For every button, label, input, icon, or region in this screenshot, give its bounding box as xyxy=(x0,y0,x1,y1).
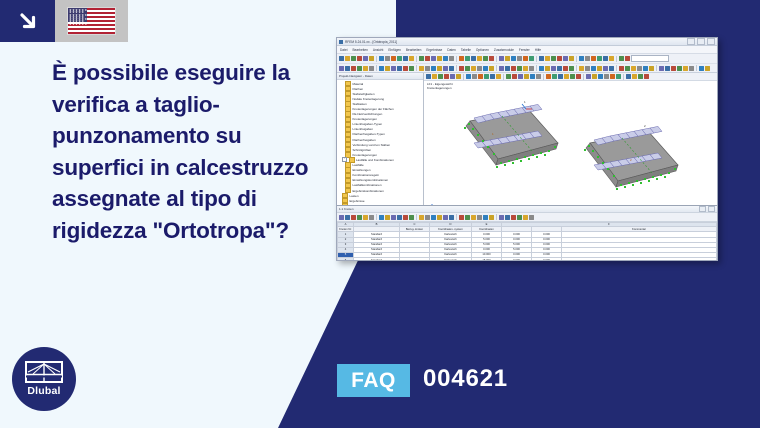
toolbar-button-icon[interactable] xyxy=(570,74,575,79)
toolbar-separator xyxy=(536,65,537,71)
toolbar-button-icon[interactable] xyxy=(631,66,636,71)
toolbar-button-icon[interactable] xyxy=(545,56,550,61)
data-grid[interactable]: ABCDEFKnoten Nr.Bezug- knotenKoordinaten… xyxy=(337,222,717,261)
maximize-icon[interactable] xyxy=(697,38,705,45)
table-cell[interactable]: 0.000 xyxy=(532,257,562,261)
toolbar-button-icon[interactable] xyxy=(489,66,494,71)
tree-item-label: Lastfälle xyxy=(353,163,364,167)
toolbar-button-icon[interactable] xyxy=(579,56,584,61)
frame-structure-icon xyxy=(25,361,63,383)
toolbar-button-icon[interactable] xyxy=(499,215,504,220)
project-navigator-tree[interactable]: MaterialFlächenStabsteifigkeitenNodale K… xyxy=(337,80,423,217)
table-cell[interactable]: Kartesisch xyxy=(430,257,472,261)
tree-item-label: Knotenlagerungen der Flächen xyxy=(353,107,394,111)
toolbar-button-icon[interactable] xyxy=(489,215,494,220)
toolbar-button-icon[interactable] xyxy=(459,215,464,220)
toolbar-button-icon[interactable] xyxy=(339,56,344,61)
toolbar-button-icon[interactable] xyxy=(604,74,609,79)
toolbar-button-icon[interactable] xyxy=(586,74,591,79)
toolbar-button-icon[interactable] xyxy=(425,66,430,71)
tree-item-label: FE-Netzverdichtungen xyxy=(353,112,383,116)
toolbar-button-icon[interactable] xyxy=(484,74,489,79)
tree-item-label: Material xyxy=(353,82,364,86)
toolbar-button-icon[interactable] xyxy=(419,56,424,61)
toolbar-button-icon[interactable] xyxy=(625,56,630,61)
tree-item-label: Einwirkungen xyxy=(353,168,371,172)
table-cell[interactable]: 0.000 xyxy=(502,257,532,261)
table-cell[interactable] xyxy=(400,257,430,261)
toolbar-separator xyxy=(616,65,617,71)
toolbar-button-icon[interactable] xyxy=(478,74,483,79)
table-cell[interactable]: 6 xyxy=(338,257,354,261)
app-title: RFEM 5.24.01.xx - [Ortotropia_2011] xyxy=(345,40,397,44)
toolbar-button-icon[interactable] xyxy=(579,66,584,71)
toolbar-button-icon[interactable] xyxy=(659,66,664,71)
usa-flag-icon: ★★★★★★★★★★★★★★★★★★★★★★★★★★★★★★★★★★★★★★★ xyxy=(67,7,116,35)
toolbar-button-icon[interactable] xyxy=(511,56,516,61)
toolbar-button-icon[interactable] xyxy=(552,74,557,79)
toolbar-button-icon[interactable] xyxy=(443,215,448,220)
toolbar-button-icon[interactable] xyxy=(459,56,464,61)
toolbar-button-icon[interactable] xyxy=(471,66,476,71)
toolbar-button-icon[interactable] xyxy=(609,66,614,71)
toolbar-button-icon[interactable] xyxy=(563,56,568,61)
table-toolbar[interactable] xyxy=(337,213,717,222)
toolbar-button-icon[interactable] xyxy=(379,66,384,71)
toolbar-button-icon[interactable] xyxy=(465,56,470,61)
toolbar-button-icon[interactable] xyxy=(483,215,488,220)
toolbar-separator xyxy=(503,74,504,80)
toolbar-separator xyxy=(496,214,497,220)
toolbar-button-icon[interactable] xyxy=(477,56,482,61)
toolbar-button-icon[interactable] xyxy=(610,74,615,79)
toolbar-separator xyxy=(463,74,464,80)
table-pane: 1.1 Knoten ABCDEFKnoten Nr.Bezug- knoten… xyxy=(337,205,717,260)
toolbar-button-icon[interactable] xyxy=(339,215,344,220)
toolbar-button-icon[interactable] xyxy=(619,56,624,61)
toolbar-button-icon[interactable] xyxy=(619,66,624,71)
toolbar-button-icon[interactable] xyxy=(536,74,541,79)
toolbar-button-icon[interactable] xyxy=(591,56,596,61)
toolbar-button-icon[interactable] xyxy=(598,74,603,79)
toolbar-separator xyxy=(376,65,377,71)
toolbar-separator xyxy=(583,74,584,80)
language-flag-badge[interactable]: ★★★★★★★★★★★★★★★★★★★★★★★★★★★★★★★★★★★★★★★ xyxy=(55,0,128,42)
menu-item-einfügen[interactable]: Einfügen xyxy=(388,48,401,52)
app-icon xyxy=(339,40,343,44)
toolbar-button-icon[interactable] xyxy=(505,66,510,71)
toolbar-button-icon[interactable] xyxy=(443,66,448,71)
toolbar-button-icon[interactable] xyxy=(426,74,431,79)
toolbar-button-icon[interactable] xyxy=(638,74,643,79)
menu-item-fenster[interactable]: Fenster xyxy=(519,48,530,52)
toolbar-button-icon[interactable] xyxy=(517,66,522,71)
tree-item-label: Knotenlagerungen xyxy=(353,153,378,157)
toolbar-button-icon[interactable] xyxy=(379,215,384,220)
toolbar-button-icon[interactable] xyxy=(357,56,362,61)
tree-item-label: Linienfreigaben-Typen xyxy=(353,122,383,126)
toolbar-button-icon[interactable] xyxy=(403,215,408,220)
toolbar-button-icon[interactable] xyxy=(345,56,350,61)
toolbar-button-icon[interactable] xyxy=(397,56,402,61)
toolbar-button-icon[interactable] xyxy=(466,74,471,79)
toolbar-button-icon[interactable] xyxy=(409,56,414,61)
tree-item-label: Flächenfreigaben-Typen xyxy=(353,132,385,136)
toolbar-button-icon[interactable] xyxy=(512,74,517,79)
table-cell[interactable] xyxy=(562,257,717,261)
toolbar-button-icon[interactable] xyxy=(438,74,443,79)
toolbar-button-icon[interactable] xyxy=(545,66,550,71)
toolbar-separator xyxy=(496,56,497,62)
toolbar-button-icon[interactable] xyxy=(351,215,356,220)
toolbar-button-icon[interactable] xyxy=(671,66,676,71)
toolbar-button-icon[interactable] xyxy=(456,74,461,79)
toolbar-button-icon[interactable] xyxy=(443,56,448,61)
table-cell[interactable]: 15.000 xyxy=(472,257,502,261)
toolbar-button-icon[interactable] xyxy=(351,66,356,71)
toolbar-button-icon[interactable] xyxy=(551,56,556,61)
faq-number: 004621 xyxy=(423,365,508,393)
toolbar-button-icon[interactable] xyxy=(505,215,510,220)
toolbar-button-icon[interactable] xyxy=(357,215,362,220)
toolbar-button-icon[interactable] xyxy=(391,66,396,71)
toolbar-separator xyxy=(416,214,417,220)
toolbar-button-icon[interactable] xyxy=(518,74,523,79)
toolbar-button-icon[interactable] xyxy=(419,215,424,220)
toolbar-button-icon[interactable] xyxy=(569,66,574,71)
toolbar-button-icon[interactable] xyxy=(477,215,482,220)
tree-item-label: Schnittgrößen xyxy=(353,148,372,152)
toolbar-combobox[interactable] xyxy=(631,55,669,63)
toolbar-button-icon[interactable] xyxy=(419,66,424,71)
toolbar-button-icon[interactable] xyxy=(551,66,556,71)
toolbar-button-icon[interactable] xyxy=(459,66,464,71)
toolbar-button-icon[interactable] xyxy=(472,74,477,79)
toolbar-button-icon[interactable] xyxy=(585,56,590,61)
toolbar-button-icon[interactable] xyxy=(626,74,631,79)
toolbar-button-icon[interactable] xyxy=(530,74,535,79)
toolbar-button-icon[interactable] xyxy=(597,66,602,71)
toolbar-button-icon[interactable] xyxy=(529,56,534,61)
toolbar-button-icon[interactable] xyxy=(591,66,596,71)
toolbar-button-icon[interactable] xyxy=(523,56,528,61)
menu-item-bearbeiten[interactable]: Bearbeiten xyxy=(406,48,421,52)
toolbar-button-icon[interactable] xyxy=(345,215,350,220)
toolbar-separator xyxy=(536,56,537,62)
toolbar-button-icon[interactable] xyxy=(397,66,402,71)
toolbar-button-icon[interactable] xyxy=(425,56,430,61)
toolbar-button-icon[interactable] xyxy=(524,74,529,79)
tree-item-label: Stabsteifigkeiten xyxy=(353,92,375,96)
toolbar-button-icon[interactable] xyxy=(391,215,396,220)
app-toolbar-secondary[interactable] xyxy=(337,64,717,73)
toolbar-separator xyxy=(376,56,377,62)
svg-text:1: 1 xyxy=(524,100,526,104)
toolbar-button-icon[interactable] xyxy=(557,66,562,71)
table-window-controls[interactable] xyxy=(699,206,715,212)
toolbar-button-icon[interactable] xyxy=(431,215,436,220)
toolbar-button-icon[interactable] xyxy=(391,56,396,61)
table-cell[interactable]: Standard xyxy=(354,257,400,261)
menu-item-ansicht[interactable]: Ansicht xyxy=(373,48,383,52)
toolbar-button-icon[interactable] xyxy=(505,56,510,61)
toolbar-separator xyxy=(416,65,417,71)
table-title-text: 1.1 Knoten xyxy=(339,207,354,211)
toolbar-button-icon[interactable] xyxy=(483,56,488,61)
toolbar-button-icon[interactable] xyxy=(403,66,408,71)
toolbar-button-icon[interactable] xyxy=(471,56,476,61)
toolbar-button-icon[interactable] xyxy=(517,215,522,220)
toolbar-button-icon[interactable] xyxy=(649,66,654,71)
toolbar-button-icon[interactable] xyxy=(437,66,442,71)
table-pane-title: 1.1 Knoten xyxy=(337,206,717,213)
logo-wordmark: Dlubal xyxy=(27,385,60,397)
toolbar-button-icon[interactable] xyxy=(471,215,476,220)
toolbar-separator xyxy=(456,56,457,62)
toolbar-button-icon[interactable] xyxy=(363,56,368,61)
toolbar-button-icon[interactable] xyxy=(449,66,454,71)
toolbar-button-icon[interactable] xyxy=(444,74,449,79)
toolbar-button-icon[interactable] xyxy=(409,215,414,220)
toolbar-separator xyxy=(576,65,577,71)
toolbar-button-icon[interactable] xyxy=(558,74,563,79)
toolbar-button-icon[interactable] xyxy=(490,74,495,79)
toolbar-button-icon[interactable] xyxy=(603,66,608,71)
menu-item-optionen[interactable]: Optionen xyxy=(476,48,489,52)
toolbar-button-icon[interactable] xyxy=(609,56,614,61)
toolbar-button-icon[interactable] xyxy=(363,215,368,220)
slab-model-left[interactable]: 1 1 xyxy=(452,99,556,173)
toolbar-button-icon[interactable] xyxy=(385,66,390,71)
toolbar-button-icon[interactable] xyxy=(385,56,390,61)
toolbar-button-icon[interactable] xyxy=(345,66,350,71)
toolbar-button-icon[interactable] xyxy=(449,56,454,61)
toolbar-button-icon[interactable] xyxy=(449,215,454,220)
toolbar-separator xyxy=(376,214,377,220)
toolbar-separator xyxy=(416,56,417,62)
menu-item-hilfe[interactable]: Hilfe xyxy=(535,48,541,52)
toolbar-button-icon[interactable] xyxy=(644,74,649,79)
toolbar-button-icon[interactable] xyxy=(603,56,608,61)
toolbar-button-icon[interactable] xyxy=(369,56,374,61)
toolbar-button-icon[interactable] xyxy=(431,56,436,61)
toolbar-button-icon[interactable] xyxy=(511,66,516,71)
toolbar-separator xyxy=(696,65,697,71)
viewport-toolbar[interactable] xyxy=(424,73,717,81)
toolbar-separator xyxy=(623,74,624,80)
toolbar-button-icon[interactable] xyxy=(625,66,630,71)
toolbar-button-icon[interactable] xyxy=(683,66,688,71)
toolbar-button-icon[interactable] xyxy=(499,56,504,61)
table-row[interactable]: 6StandardKartesisch15.0000.0000.000 xyxy=(338,257,717,261)
toolbar-button-icon[interactable] xyxy=(585,66,590,71)
toolbar-button-icon[interactable] xyxy=(546,74,551,79)
tree-item-label: Kombinationsregeln xyxy=(353,173,380,177)
tree-item-label: Lasten xyxy=(350,194,359,198)
toolbar-button-icon[interactable] xyxy=(705,66,710,71)
toolbar-button-icon[interactable] xyxy=(489,56,494,61)
viewport-label: LF1 - Eigengewicht Knotenlagerungen xyxy=(427,82,453,90)
toolbar-button-icon[interactable] xyxy=(569,56,574,61)
toolbar-button-icon[interactable] xyxy=(432,74,437,79)
faq-card: ★★★★★★★★★★★★★★★★★★★★★★★★★★★★★★★★★★★★★★★ … xyxy=(0,0,760,428)
menu-item-zusatzmodule[interactable]: Zusatzmodule xyxy=(494,48,514,52)
app-menubar[interactable]: DateiBearbeitenAnsichtEinfügenBearbeiten… xyxy=(337,46,717,54)
tree-item-label: Ergebniskombinationen xyxy=(353,189,384,193)
tree-item-label: Flächen xyxy=(353,87,364,91)
tree-item-label: Nodale Knotenlagerung xyxy=(353,97,385,101)
dlubal-logo[interactable]: Dlubal xyxy=(12,347,76,411)
app-toolbar-primary[interactable] xyxy=(337,54,717,64)
toolbar-button-icon[interactable] xyxy=(523,215,528,220)
toolbar-button-icon[interactable] xyxy=(677,66,682,71)
toolbar-button-icon[interactable] xyxy=(699,66,704,71)
toolbar-button-icon[interactable] xyxy=(523,66,528,71)
toolbar-button-icon[interactable] xyxy=(637,66,642,71)
toolbar-button-icon[interactable] xyxy=(576,74,581,79)
toolbar-button-icon[interactable] xyxy=(564,74,569,79)
svg-text:2: 2 xyxy=(644,124,646,128)
toolbar-button-icon[interactable] xyxy=(496,74,501,79)
toolbar-button-icon[interactable] xyxy=(379,56,384,61)
menu-item-datei[interactable]: Datei xyxy=(340,48,347,52)
toolbar-button-icon[interactable] xyxy=(409,66,414,71)
toolbar-button-icon[interactable] xyxy=(477,66,482,71)
tree-item-label: Lastfallkombinationen xyxy=(353,183,382,187)
toolbar-button-icon[interactable] xyxy=(632,74,637,79)
close-icon[interactable] xyxy=(707,38,715,45)
arrow-down-right-icon xyxy=(0,0,55,42)
toolbar-button-icon[interactable] xyxy=(563,66,568,71)
toolbar-button-icon[interactable] xyxy=(465,66,470,71)
project-navigator-header: Projekt-Navigator - Daten xyxy=(337,73,423,80)
app-screenshot: RFEM 5.24.01.xx - [Ortotropia_2011] Date… xyxy=(336,37,718,261)
toolbar-button-icon[interactable] xyxy=(403,56,408,61)
tree-item-label: Einwirkungskombinationen xyxy=(353,178,389,182)
toolbar-button-icon[interactable] xyxy=(529,215,534,220)
tree-item-label: Linienfreigaben xyxy=(353,127,374,131)
faq-badge: FAQ xyxy=(337,364,410,397)
toolbar-separator xyxy=(496,65,497,71)
toolbar-button-icon[interactable] xyxy=(539,66,544,71)
toolbar-button-icon[interactable] xyxy=(529,66,534,71)
toolbar-button-icon[interactable] xyxy=(597,56,602,61)
toolbar-button-icon[interactable] xyxy=(483,66,488,71)
toolbar-button-icon[interactable] xyxy=(517,56,522,61)
toolbar-button-icon[interactable] xyxy=(616,74,621,79)
tree-item-label: Knotenlagerungen xyxy=(353,117,378,121)
tree-item-label: Verbindung von/zum Stäben xyxy=(353,143,391,147)
tree-item-label: Flächenfreigaben xyxy=(353,138,376,142)
menu-item-daten[interactable]: Daten xyxy=(447,48,456,52)
toolbar-button-icon[interactable] xyxy=(643,66,648,71)
toolbar-button-icon[interactable] xyxy=(592,74,597,79)
toolbar-button-icon[interactable] xyxy=(369,66,374,71)
toolbar-separator xyxy=(576,56,577,62)
toolbar-button-icon[interactable] xyxy=(437,56,442,61)
toolbar-button-icon[interactable] xyxy=(689,66,694,71)
toolbar-button-icon[interactable] xyxy=(363,66,368,71)
toolbar-button-icon[interactable] xyxy=(357,66,362,71)
toolbar-button-icon[interactable] xyxy=(369,215,374,220)
toolbar-separator xyxy=(456,65,457,71)
project-navigator[interactable]: Projekt-Navigator - Daten MaterialFläche… xyxy=(337,73,424,225)
toolbar-button-icon[interactable] xyxy=(339,66,344,71)
toolbar-button-icon[interactable] xyxy=(465,215,470,220)
toolbar-button-icon[interactable] xyxy=(499,66,504,71)
faq-badge-label: FAQ xyxy=(351,369,396,393)
toolbar-button-icon[interactable] xyxy=(511,215,516,220)
minimize-icon[interactable] xyxy=(687,38,695,45)
toolbar-separator xyxy=(543,74,544,80)
toolbar-button-icon[interactable] xyxy=(557,56,562,61)
slab-model-right[interactable]: 2 2 xyxy=(572,121,676,195)
toolbar-separator xyxy=(656,65,657,71)
page-title: È possibile eseguire la verifica a tagli… xyxy=(52,57,320,246)
tree-item-label: Ergebnisse xyxy=(350,199,365,203)
toolbar-button-icon[interactable] xyxy=(450,74,455,79)
toolbar-button-icon[interactable] xyxy=(437,215,442,220)
app-titlebar: RFEM 5.24.01.xx - [Ortotropia_2011] xyxy=(337,38,717,46)
toolbar-button-icon[interactable] xyxy=(385,215,390,220)
window-controls[interactable] xyxy=(687,38,715,45)
toolbar-separator xyxy=(456,214,457,220)
toolbar-button-icon[interactable] xyxy=(431,66,436,71)
toolbar-button-icon[interactable] xyxy=(397,215,402,220)
toolbar-button-icon[interactable] xyxy=(425,215,430,220)
model-viewport[interactable]: LF1 - Eigengewicht Knotenlagerungen xyxy=(424,73,717,225)
menu-item-bearbeiten[interactable]: Bearbeiten xyxy=(352,48,367,52)
toolbar-button-icon[interactable] xyxy=(665,66,670,71)
toolbar-button-icon[interactable] xyxy=(506,74,511,79)
toolbar-button-icon[interactable] xyxy=(539,56,544,61)
menu-item-ergebnisse[interactable]: Ergebnisse xyxy=(426,48,442,52)
menu-item-tabelle[interactable]: Tabelle xyxy=(461,48,471,52)
toolbar-button-icon[interactable] xyxy=(351,56,356,61)
tree-item-label: Stablasten xyxy=(353,102,367,106)
toolbar-separator xyxy=(616,56,617,62)
tree-item-label: Lastfälle und Kombinationen xyxy=(356,158,394,162)
app-workarea: Projekt-Navigator - Daten MaterialFläche… xyxy=(337,73,717,225)
